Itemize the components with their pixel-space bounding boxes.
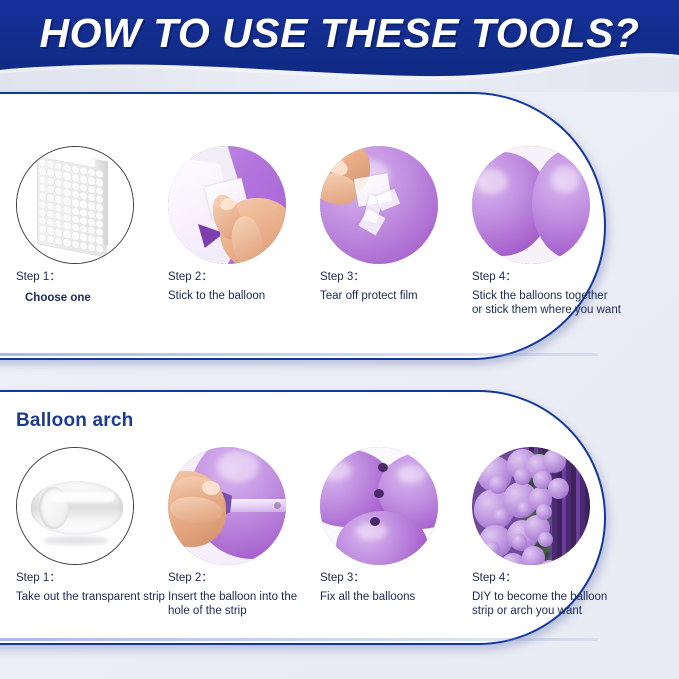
step-description: DIY to become the balloon strip or arch … <box>472 590 622 619</box>
step-cell: Step 1： Choose one <box>16 146 166 305</box>
step-description: Fix all the balloons <box>320 590 470 605</box>
step-cell: Step 4： DIY to become the balloon strip … <box>472 447 622 619</box>
instruction-graphic-page: HOW TO USE THESE TOOLS? Step 1： Choose o… <box>0 0 679 679</box>
step-label: Step 2： <box>168 272 318 284</box>
step-label: Step 4： <box>472 573 622 585</box>
step-label: Step 3： <box>320 272 470 284</box>
hand-sticking-dot-to-balloon-photo <box>168 146 286 264</box>
step-cell: Step 2： Insert the balloon into the hole… <box>168 447 318 619</box>
panel-glue-dots: Step 1： Choose one Step 2： Stick to <box>0 92 606 360</box>
step-description: Tear off protect film <box>320 289 470 304</box>
section-heading-balloon-arch: Balloon arch <box>16 410 133 432</box>
step-cell: Step 4： Stick the balloons together or s… <box>472 146 622 318</box>
step-label: Step 4： <box>472 272 622 284</box>
step-description: Choose one <box>16 291 166 306</box>
three-balloons-fixed-photo <box>320 447 438 565</box>
finished-balloon-arch-photo <box>472 447 590 565</box>
step-description: Insert the balloon into the hole of the … <box>168 590 318 619</box>
two-balloons-stuck-together-photo <box>472 146 590 264</box>
step-cell: Step 3： Tear off protect film <box>320 146 470 303</box>
hand-inserting-balloon-into-strip-photo <box>168 447 286 565</box>
step-label: Step 2： <box>168 573 318 585</box>
step-cell: Step 3： Fix all the balloons <box>320 447 470 604</box>
step-cell: Step 1： Take out the transparent strip <box>16 447 166 604</box>
step-description: Stick the balloons together or stick the… <box>472 289 622 318</box>
panel-balloon-arch: Balloon arch Step 1： Take out the transp… <box>0 390 606 645</box>
step-description: Stick to the balloon <box>168 289 318 304</box>
hand-peeling-protective-film-photo <box>320 146 438 264</box>
step-description: Take out the transparent strip <box>16 590 166 605</box>
step-label: Step 1： <box>16 573 166 585</box>
step-label: Step 3： <box>320 573 470 585</box>
header-banner: HOW TO USE THESE TOOLS? <box>0 0 679 92</box>
transparent-strip-roll-photo <box>16 447 134 565</box>
step-label: Step 1： <box>16 272 166 284</box>
step-cell: Step 2： Stick to the balloon <box>168 146 318 303</box>
page-title: HOW TO USE THESE TOOLS? <box>0 0 679 66</box>
glue-dot-sheet-photo <box>16 146 134 264</box>
